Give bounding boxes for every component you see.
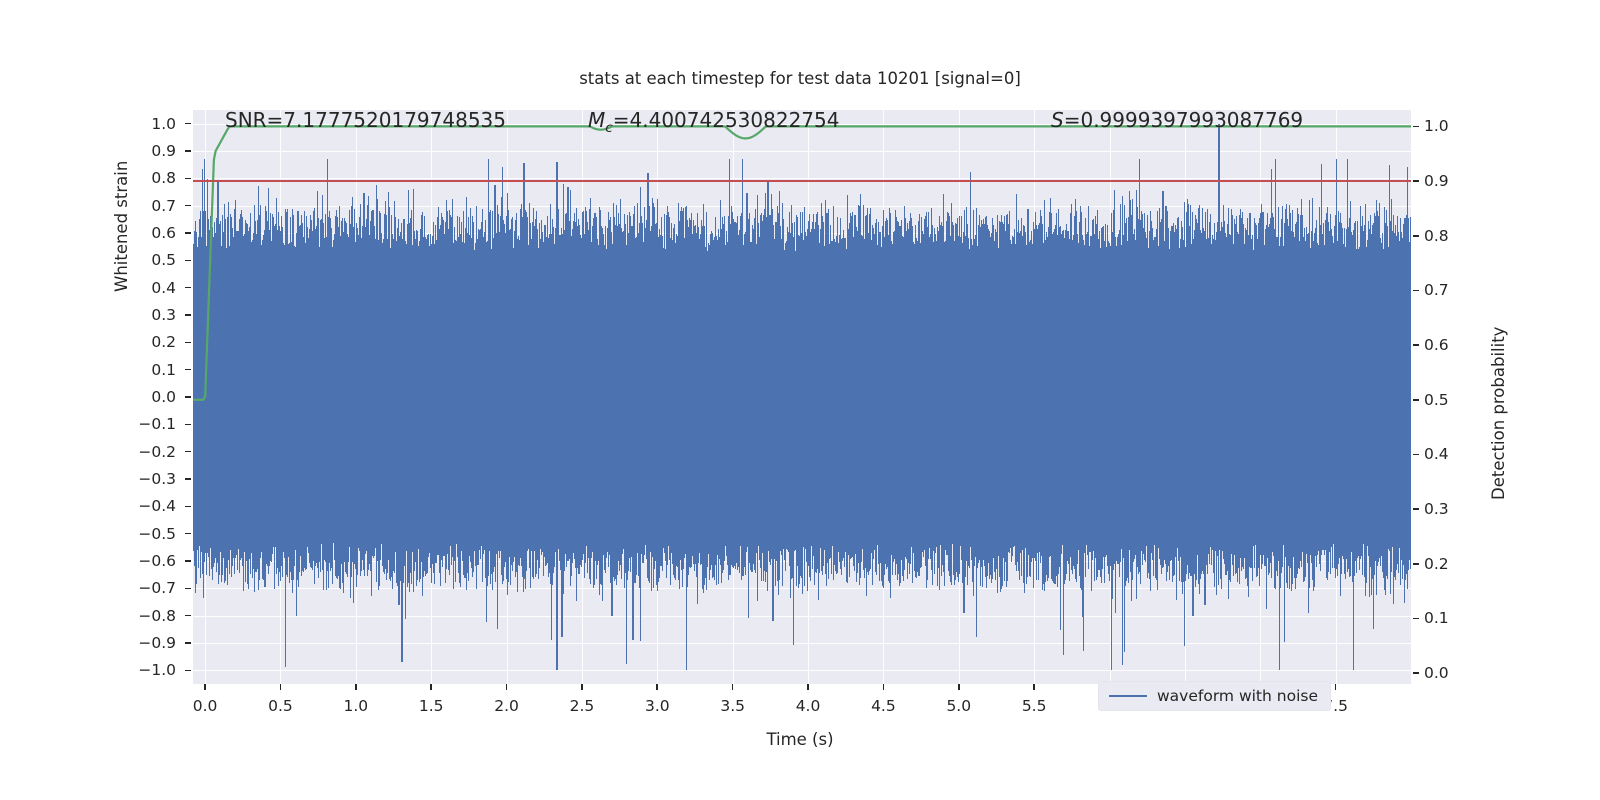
y-tick-label-left: −0.2 [130, 443, 176, 461]
y-axis-label-right: Detection probability [1489, 280, 1508, 500]
y-tick-label-right: 0.1 [1424, 609, 1470, 627]
x-tick-mark [807, 684, 809, 690]
y-tick-mark-left [185, 588, 191, 590]
detection-probability-series [193, 110, 1411, 684]
x-tick-label: 1.0 [326, 697, 386, 715]
x-tick-mark [656, 684, 658, 690]
y-tick-label-left: 0.8 [130, 169, 176, 187]
annotation-mc-subscript: c [605, 120, 612, 136]
annotation-mc-value: 4.400742530822754 [630, 110, 840, 132]
y-tick-mark-left [185, 533, 191, 535]
plot-area[interactable]: SNR=7.1777520179748535 Mc=4.400742530822… [193, 110, 1411, 684]
y-tick-label-left: 0.5 [130, 251, 176, 269]
y-tick-mark-left [185, 670, 191, 672]
legend[interactable]: waveform with noise [1098, 681, 1331, 711]
y-tick-label-right: 1.0 [1424, 117, 1470, 135]
x-tick-label: 1.5 [401, 697, 461, 715]
x-tick-label: 2.5 [552, 697, 612, 715]
y-tick-label-left: −0.6 [130, 552, 176, 570]
threshold-line [193, 180, 1411, 182]
y-tick-label-left: 0.2 [130, 333, 176, 351]
y-tick-label-left: −1.0 [130, 661, 176, 679]
y-tick-mark-right [1413, 563, 1419, 565]
y-tick-label-right: 0.4 [1424, 445, 1470, 463]
y-tick-mark-left [185, 178, 191, 180]
y-tick-label-left: −0.9 [130, 634, 176, 652]
y-tick-mark-right [1413, 126, 1419, 128]
annotation-s-equals: = [1064, 110, 1081, 132]
y-tick-label-left: 0.7 [130, 197, 176, 215]
x-tick-label: 4.5 [853, 697, 913, 715]
annotation-mc-equals: = [613, 110, 630, 132]
y-tick-mark-left [185, 369, 191, 371]
y-tick-label-left: −0.3 [130, 470, 176, 488]
y-tick-label-left: 1.0 [130, 115, 176, 133]
y-tick-label-right: 0.7 [1424, 281, 1470, 299]
y-tick-label-left: 0.9 [130, 142, 176, 160]
y-tick-label-left: −0.4 [130, 497, 176, 515]
x-tick-mark [506, 684, 508, 690]
y-tick-mark-right [1413, 344, 1419, 346]
x-tick-label: 2.0 [477, 697, 537, 715]
x-tick-label: 3.5 [703, 697, 763, 715]
y-tick-label-right: 0.6 [1424, 336, 1470, 354]
x-tick-mark [1033, 684, 1035, 690]
x-tick-mark [355, 684, 357, 690]
y-tick-mark-left [185, 232, 191, 234]
y-tick-label-left: −0.7 [130, 579, 176, 597]
annotation-mc: Mc=4.400742530822754 [588, 110, 839, 136]
y-tick-mark-left [185, 342, 191, 344]
y-axis-label-left: Whitened strain [112, 92, 131, 292]
y-tick-label-right: 0.8 [1424, 227, 1470, 245]
x-axis-label: Time (s) [0, 730, 1600, 749]
legend-label-waveform: waveform with noise [1157, 687, 1318, 705]
y-tick-label-left: −0.1 [130, 415, 176, 433]
annotation-s-value: 0.9999397993087769 [1080, 110, 1303, 132]
y-tick-mark-right [1413, 180, 1419, 182]
figure-canvas: stats at each timestep for test data 102… [0, 0, 1600, 800]
y-tick-mark-left [185, 424, 191, 426]
x-tick-label: 5.5 [1004, 697, 1064, 715]
y-tick-mark-left [185, 287, 191, 289]
y-tick-mark-left [185, 123, 191, 125]
y-tick-mark-right [1413, 508, 1419, 510]
x-tick-mark [732, 684, 734, 690]
y-tick-mark-right [1413, 618, 1419, 620]
y-tick-mark-right [1413, 290, 1419, 292]
annotation-s-symbol: S [1051, 110, 1064, 132]
x-tick-label: 4.0 [778, 697, 838, 715]
y-tick-mark-left [185, 560, 191, 562]
y-tick-mark-right [1413, 672, 1419, 674]
x-tick-mark [204, 684, 206, 690]
y-tick-mark-right [1413, 235, 1419, 237]
legend-swatch-waveform [1109, 695, 1147, 697]
y-tick-mark-left [185, 314, 191, 316]
x-tick-mark [958, 684, 960, 690]
y-tick-label-left: 0.4 [130, 279, 176, 297]
y-tick-mark-left [185, 642, 191, 644]
y-tick-mark-left [185, 506, 191, 508]
annotation-mc-symbol: M [588, 110, 605, 132]
annotation-s: S=0.9999397993087769 [1051, 110, 1303, 132]
x-tick-label: 0.5 [250, 697, 310, 715]
y-tick-mark-left [185, 260, 191, 262]
y-tick-label-right: 0.0 [1424, 664, 1470, 682]
y-tick-label-right: 0.2 [1424, 555, 1470, 573]
y-tick-label-left: 0.0 [130, 388, 176, 406]
y-tick-label-left: 0.6 [130, 224, 176, 242]
x-tick-label: 0.0 [175, 697, 235, 715]
y-tick-label-left: −0.8 [130, 607, 176, 625]
x-tick-label: 3.0 [627, 697, 687, 715]
y-tick-mark-left [185, 451, 191, 453]
y-tick-mark-left [185, 150, 191, 152]
y-tick-mark-left [185, 396, 191, 398]
annotation-snr: SNR=7.1777520179748535 [225, 110, 506, 132]
y-tick-mark-left [185, 615, 191, 617]
y-tick-label-right: 0.3 [1424, 500, 1470, 518]
y-tick-label-right: 0.5 [1424, 391, 1470, 409]
annotation-snr-text: SNR=7.1777520179748535 [225, 110, 506, 132]
y-tick-mark-left [185, 478, 191, 480]
y-tick-mark-right [1413, 399, 1419, 401]
x-tick-label: 5.0 [929, 697, 989, 715]
x-tick-mark [280, 684, 282, 690]
y-tick-label-right: 0.9 [1424, 172, 1470, 190]
chart-title: stats at each timestep for test data 102… [0, 69, 1600, 88]
y-tick-label-left: −0.5 [130, 525, 176, 543]
y-tick-mark-right [1413, 454, 1419, 456]
x-tick-mark [430, 684, 432, 690]
x-tick-mark [1335, 684, 1337, 690]
x-tick-mark [883, 684, 885, 690]
detection-probability-line [193, 126, 1411, 399]
y-tick-mark-left [185, 205, 191, 207]
y-tick-label-left: 0.1 [130, 361, 176, 379]
y-tick-label-left: 0.3 [130, 306, 176, 324]
x-tick-mark [581, 684, 583, 690]
